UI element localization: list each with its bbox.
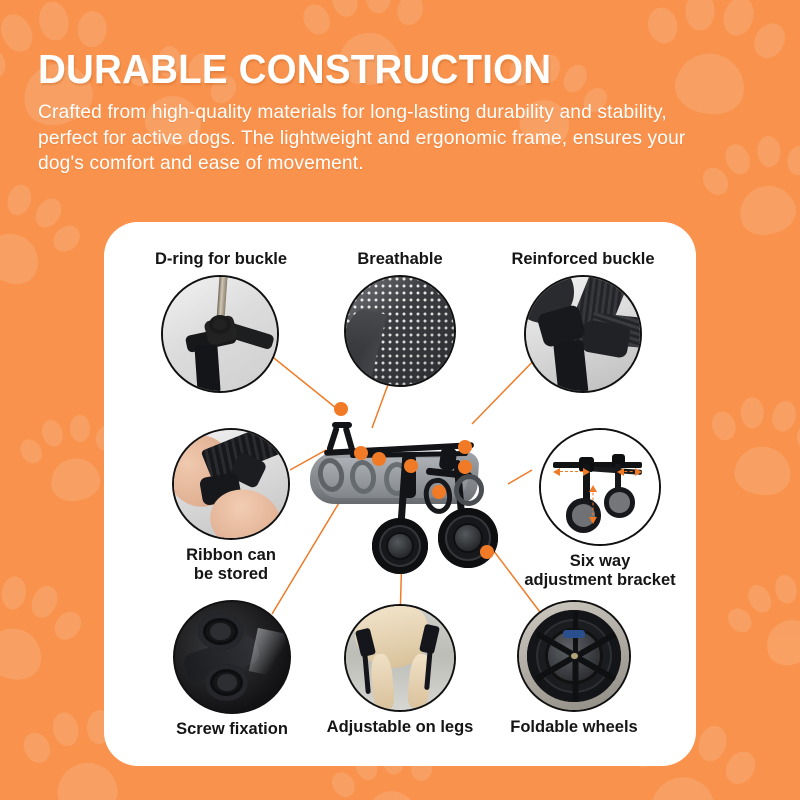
mesh-fabric-photo — [344, 275, 456, 387]
d-ring-photo — [161, 275, 279, 393]
paw-print — [711, 545, 800, 686]
feature-adjustable-legs[interactable]: Adjustable on legs — [317, 604, 483, 737]
page-title: DURABLE CONSTRUCTION — [38, 48, 696, 91]
feature-label-ribbon-line2: be stored — [163, 565, 299, 584]
connector-dot — [480, 545, 494, 559]
feature-label-adjustable-legs: Adjustable on legs — [317, 718, 483, 737]
paw-print — [700, 374, 800, 506]
foldable-wheel-photo — [517, 600, 631, 712]
paw-print — [0, 545, 100, 700]
feature-label-reinforced-buckle: Reinforced buckle — [508, 250, 658, 269]
feature-screw-fixation[interactable]: Screw fixation — [165, 600, 299, 739]
screw-fixation-photo — [173, 600, 291, 714]
connector-dot — [334, 402, 348, 416]
feature-label-d-ring: D-ring for buckle — [155, 250, 285, 269]
reinforced-buckle-photo — [524, 275, 642, 393]
feature-breathable[interactable]: Breathable — [337, 250, 463, 387]
feature-label-screw-fixation: Screw fixation — [165, 720, 299, 739]
feature-label-foldable-wheels: Foldable wheels — [500, 718, 648, 737]
feature-six-way-bracket[interactable]: Six way adjustment bracket — [524, 428, 676, 590]
connector-dot — [404, 459, 418, 473]
feature-d-ring[interactable]: D-ring for buckle — [155, 250, 285, 393]
feature-label-bracket-line1: Six way — [524, 552, 676, 571]
header: DURABLE CONSTRUCTION Crafted from high-q… — [38, 48, 738, 177]
connector-dot — [432, 485, 446, 499]
connector-dot — [458, 440, 472, 454]
connector-dot — [354, 446, 368, 460]
page-subtitle: Crafted from high-quality materials for … — [38, 100, 728, 177]
feature-label-bracket-line2: adjustment bracket — [524, 571, 676, 590]
feature-label-breathable: Breathable — [337, 250, 463, 269]
dog-legs-harness-photo — [344, 604, 456, 712]
feature-foldable-wheels[interactable]: Foldable wheels — [500, 600, 648, 737]
feature-label-ribbon-line1: Ribbon can — [163, 546, 299, 565]
six-way-bracket-photo — [539, 428, 661, 546]
hand-holding-strap-photo — [172, 428, 290, 540]
connector-dot — [372, 452, 386, 466]
feature-ribbon-stored[interactable]: Ribbon can be stored — [163, 428, 299, 584]
feature-reinforced-buckle[interactable]: Reinforced buckle — [508, 250, 658, 393]
connector-dot — [458, 460, 472, 474]
dog-wheelchair-product-image — [306, 408, 518, 588]
